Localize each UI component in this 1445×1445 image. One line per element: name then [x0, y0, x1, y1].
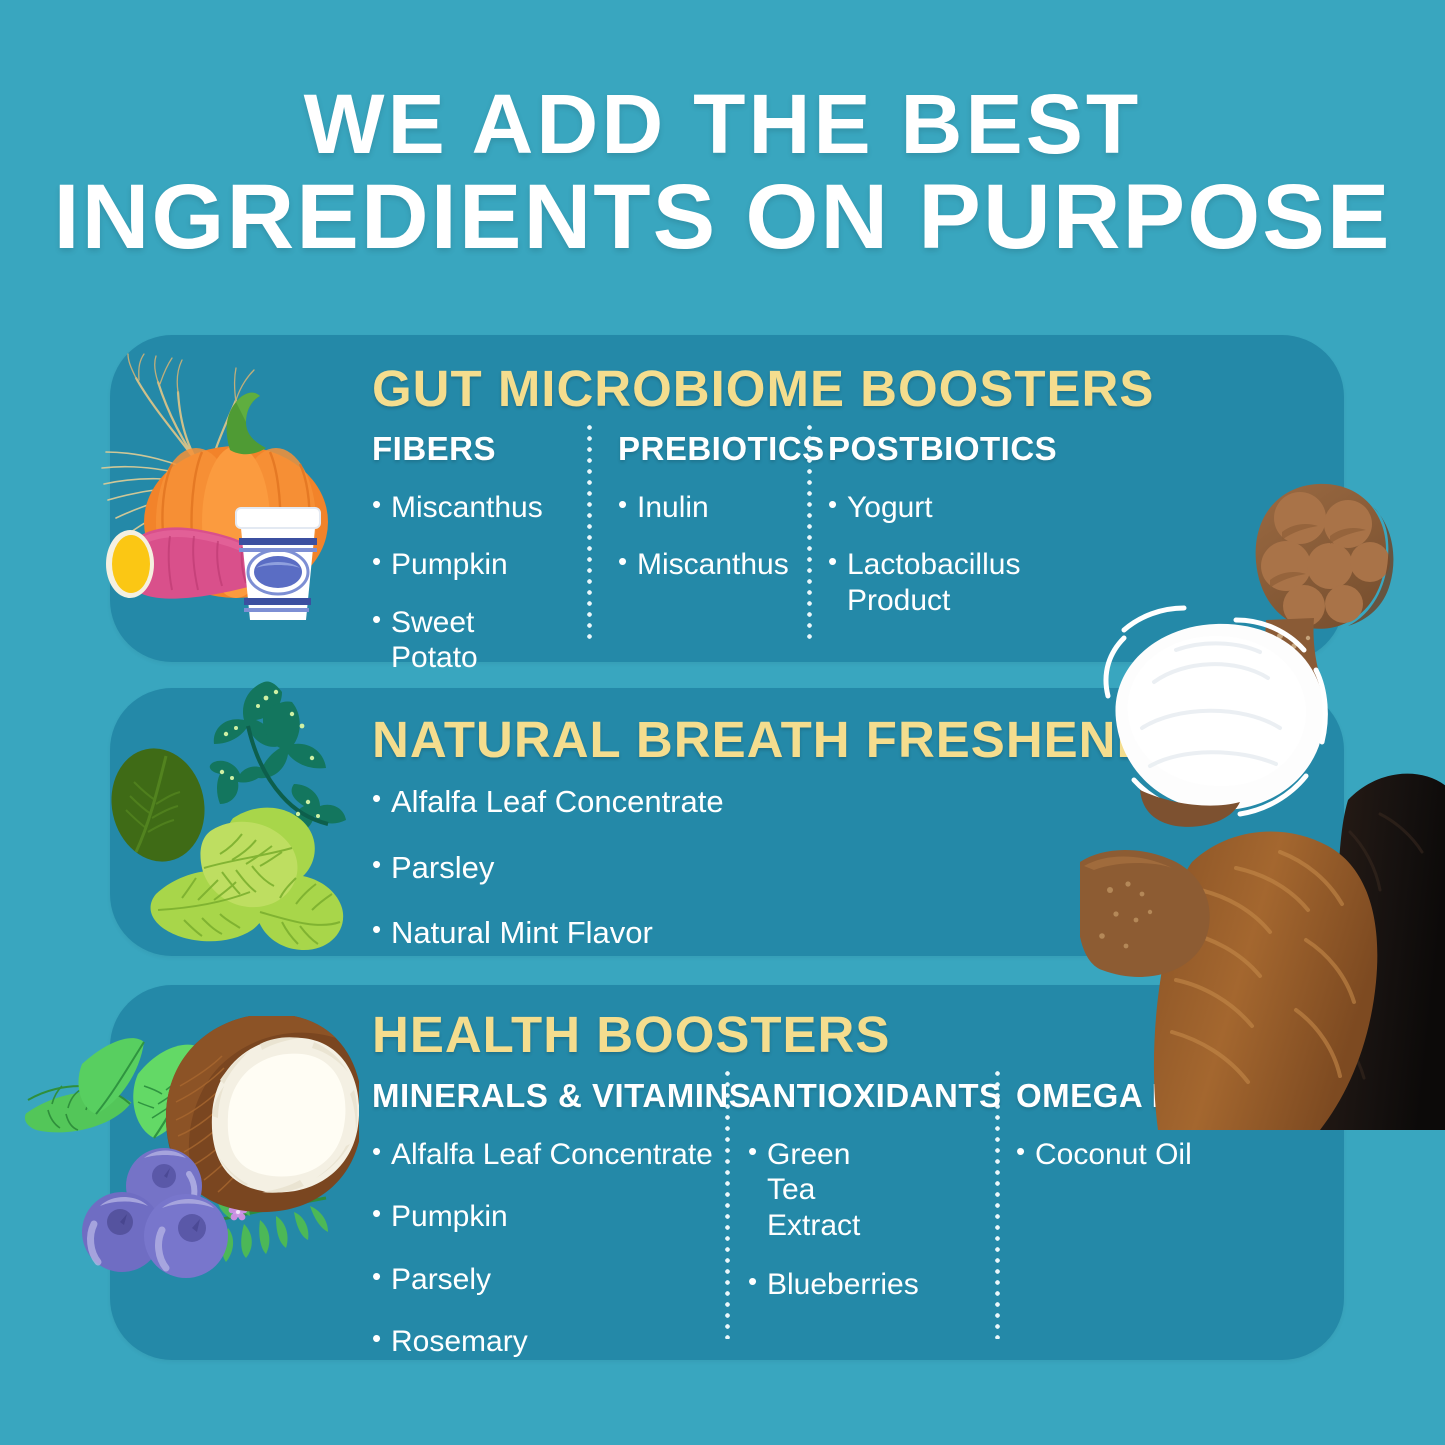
column-antioxidants: ANTIOXIDANTS Green Tea Extract Blueberri…	[748, 1077, 963, 1325]
column-fibers: FIBERS Miscanthus Pumpkin Sweet Potato	[372, 430, 567, 698]
list-item: Rosemary	[372, 1324, 722, 1359]
list-item: Sweet Potato	[372, 605, 567, 676]
list-item: Pumpkin	[372, 547, 567, 582]
list-item: Green Tea Extract	[748, 1137, 897, 1243]
page-title-line-2: INGREDIENTS ON PURPOSE	[0, 169, 1445, 267]
list-item: Miscanthus	[372, 490, 567, 525]
list-item: Coconut Oil	[1016, 1137, 1316, 1172]
ingredient-list-omega-fatty-acids: Coconut Oil	[1016, 1137, 1316, 1172]
column-title-antioxidants: ANTIOXIDANTS	[748, 1077, 963, 1115]
list-item: Inulin	[618, 490, 798, 525]
list-item: Lactobacillus Product	[828, 547, 1063, 618]
list-item: Parsley	[372, 850, 1012, 887]
column-title-fibers: FIBERS	[372, 430, 567, 468]
column-divider	[587, 425, 592, 640]
column-divider	[995, 1071, 1000, 1339]
card-health-boosters: HEALTH BOOSTERS MINERALS & VITAMINS Alfa…	[110, 985, 1344, 1360]
column-divider	[807, 425, 812, 640]
list-item: Miscanthus	[618, 547, 798, 582]
column-title-prebiotics: PREBIOTICS	[618, 430, 798, 468]
list-item: Yogurt	[828, 490, 1063, 525]
card-gut-microbiome-boosters: GUT MICROBIOME BOOSTERS FIBERS Miscanthu…	[110, 335, 1344, 662]
ingredient-list-postbiotics: Yogurt Lactobacillus Product	[828, 490, 1063, 618]
ingredient-list-minerals-vitamins: Alfalfa Leaf Concentrate Pumpkin Parsely…	[372, 1137, 722, 1360]
card-title-gut: GUT MICROBIOME BOOSTERS	[372, 359, 1154, 418]
card-natural-breath-fresheners: NATURAL BREATH FRESHENERS Alfalfa Leaf C…	[110, 688, 1344, 956]
list-item: Blueberries	[748, 1267, 963, 1302]
card-title-breath: NATURAL BREATH FRESHENERS	[372, 710, 1224, 769]
page-title: WE ADD THE BEST INGREDIENTS ON PURPOSE	[0, 80, 1445, 267]
ingredient-list-breath: Alfalfa Leaf Concentrate Parsley Natural…	[372, 784, 1012, 952]
page-title-line-1: WE ADD THE BEST	[304, 77, 1142, 171]
column-title-postbiotics: POSTBIOTICS	[828, 430, 1063, 468]
infographic-root: WE ADD THE BEST INGREDIENTS ON PURPOSE G…	[0, 0, 1445, 1445]
column-divider	[725, 1071, 730, 1339]
column-omega-fatty-acids: OMEGA FATTY ACIDS Coconut Oil	[1016, 1077, 1316, 1194]
list-item: Pumpkin	[372, 1199, 722, 1234]
column-postbiotics: POSTBIOTICS Yogurt Lactobacillus Product	[828, 430, 1063, 640]
column-prebiotics: PREBIOTICS Inulin Miscanthus	[618, 430, 798, 605]
column-title-minerals-vitamins: MINERALS & VITAMINS	[372, 1077, 722, 1115]
ingredient-list-prebiotics: Inulin Miscanthus	[618, 490, 798, 583]
list-item: Alfalfa Leaf Concentrate	[372, 784, 1012, 821]
list-item: Natural Mint Flavor	[372, 915, 1012, 952]
list-item: Alfalfa Leaf Concentrate	[372, 1137, 722, 1172]
card-title-health: HEALTH BOOSTERS	[372, 1005, 890, 1064]
list-item: Parsely	[372, 1262, 722, 1297]
column-minerals-vitamins: MINERALS & VITAMINS Alfalfa Leaf Concent…	[372, 1077, 722, 1382]
ingredient-list-fibers: Miscanthus Pumpkin Sweet Potato	[372, 490, 567, 676]
ingredient-list-antioxidants: Green Tea Extract Blueberries	[748, 1137, 963, 1303]
column-breath-ingredients: Alfalfa Leaf Concentrate Parsley Natural…	[372, 784, 1012, 974]
column-title-omega-fatty-acids: OMEGA FATTY ACIDS	[1016, 1077, 1316, 1115]
